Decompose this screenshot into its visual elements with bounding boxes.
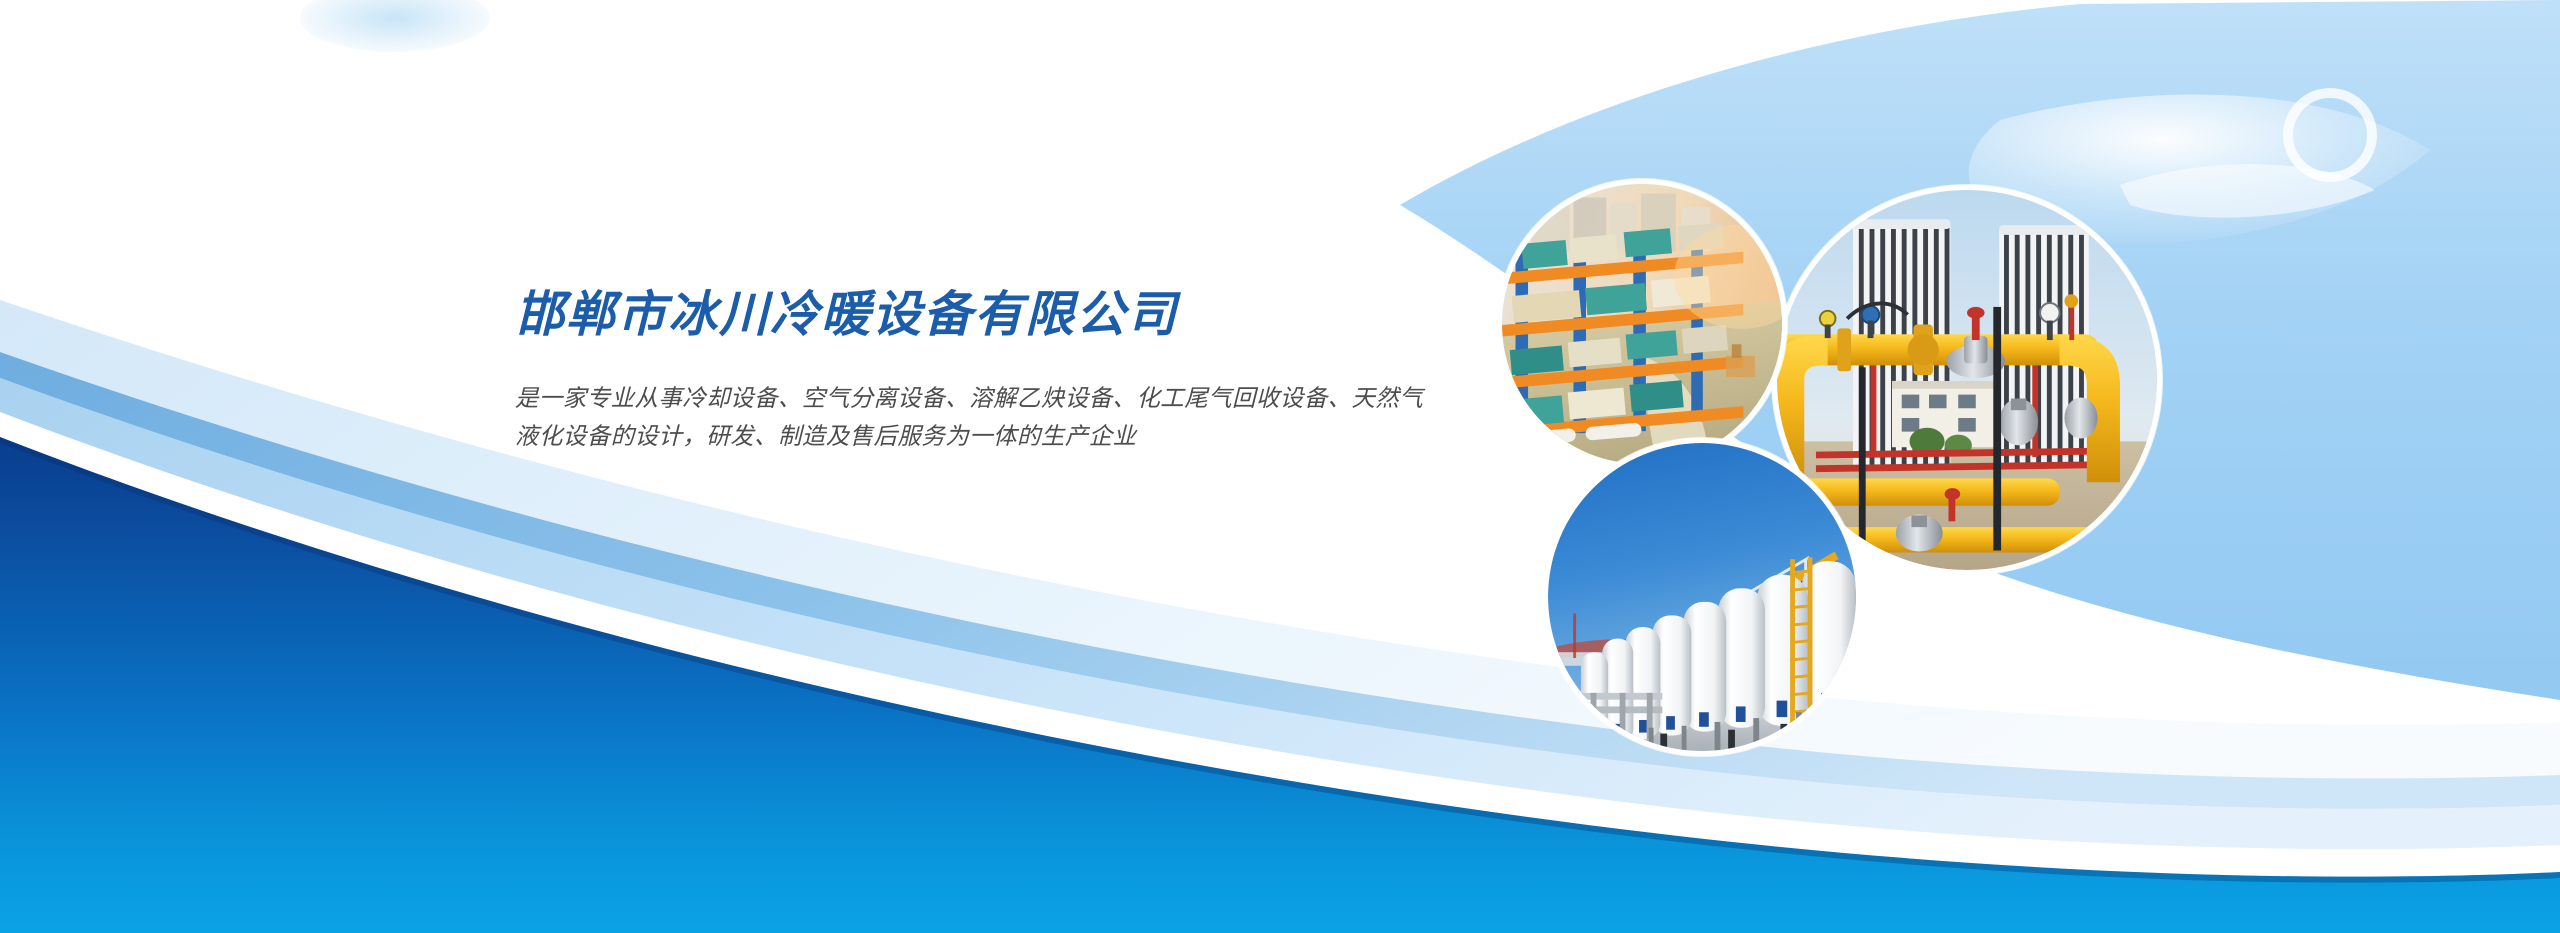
- warehouse-image: [1502, 184, 1782, 464]
- description-line-2: 液化设备的设计，研发、制造及售后服务为一体的生产企业: [515, 417, 1495, 455]
- background-wave-decoration: [0, 0, 2560, 933]
- photo-warehouse-shelving[interactable]: [1497, 179, 1787, 469]
- tanks-image: [1548, 443, 1856, 751]
- company-description: 是一家专业从事冷却设备、空气分离设备、溶解乙炔设备、化工尾气回收设备、天然气 液…: [515, 379, 1495, 455]
- photo-cryogenic-storage-tanks[interactable]: [1543, 438, 1861, 756]
- banner-text-block: 邯郸市冰川冷暖设备有限公司 是一家专业从事冷却设备、空气分离设备、溶解乙炔设备、…: [515, 288, 1515, 455]
- company-banner: 邯郸市冰川冷暖设备有限公司 是一家专业从事冷却设备、空气分离设备、溶解乙炔设备、…: [0, 0, 2560, 933]
- page-title: 邯郸市冰川冷暖设备有限公司: [515, 288, 1515, 343]
- description-line-1: 是一家专业从事冷却设备、空气分离设备、溶解乙炔设备、化工尾气回收设备、天然气: [515, 379, 1495, 417]
